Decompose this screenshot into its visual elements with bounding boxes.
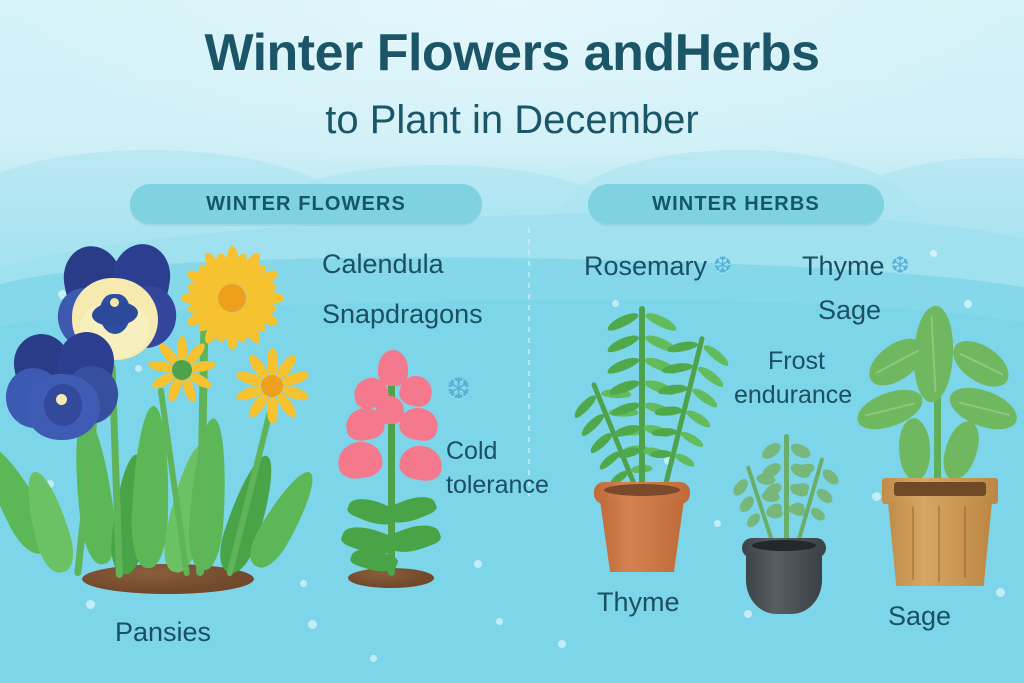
section-badge-winter-flowers[interactable]: WINTER FLOWERS bbox=[130, 184, 482, 224]
snapdragon-bloom bbox=[336, 439, 385, 481]
pot-body bbox=[746, 552, 822, 614]
planter-body bbox=[888, 502, 992, 586]
snowflake-icon: ❆ bbox=[713, 253, 732, 278]
page-subtitle: to Plant in December bbox=[0, 98, 1024, 142]
section-badge-herbs-label: WINTER HERBS bbox=[652, 193, 820, 216]
caption-sage: Sage bbox=[888, 602, 951, 632]
label-rosemary: Rosemary❆ bbox=[584, 252, 732, 282]
label-thyme-text: Thyme bbox=[802, 251, 885, 281]
label-rosemary-text: Rosemary bbox=[584, 251, 707, 281]
thyme-illustration bbox=[730, 430, 840, 590]
calendula-flower bbox=[234, 348, 310, 424]
snow-dot bbox=[744, 610, 752, 618]
snowflake-icon: ❆ bbox=[891, 253, 910, 278]
snow-dot bbox=[370, 655, 377, 662]
snapdragon-illustration bbox=[320, 350, 460, 590]
pot-soil bbox=[604, 484, 680, 496]
snapdragon-bloom bbox=[397, 443, 444, 484]
snow-dot bbox=[474, 560, 482, 568]
rosemary-illustration bbox=[560, 292, 722, 562]
section-divider bbox=[528, 228, 530, 496]
snow-dot bbox=[86, 600, 95, 609]
wood-grain bbox=[938, 506, 940, 582]
infographic-canvas: Winter Flowers andHerbs to Plant in Dece… bbox=[0, 0, 1024, 683]
pot-soil bbox=[752, 540, 816, 551]
page-title: Winter Flowers andHerbs bbox=[0, 26, 1024, 81]
sage-illustration bbox=[860, 300, 1024, 590]
pansies-illustration bbox=[0, 236, 320, 596]
label-sage: Sage bbox=[818, 296, 881, 326]
label-calendula: Calendula bbox=[322, 250, 444, 280]
calendula-flower bbox=[148, 336, 216, 404]
pansy-flower bbox=[6, 332, 122, 444]
snow-dot bbox=[496, 618, 503, 625]
snow-dot bbox=[558, 640, 566, 648]
section-badge-winter-herbs[interactable]: WINTER HERBS bbox=[588, 184, 884, 224]
caption-pansies: Pansies bbox=[115, 618, 211, 648]
label-endurance: endurance bbox=[734, 382, 852, 410]
section-badge-flowers-label: WINTER FLOWERS bbox=[206, 193, 406, 216]
snow-dot bbox=[930, 250, 937, 257]
caption-thyme: Thyme bbox=[597, 588, 680, 618]
pot-body bbox=[600, 500, 684, 572]
snow-dot bbox=[308, 620, 317, 629]
snowflake-icon: ❆ bbox=[446, 372, 471, 407]
sage-leaf bbox=[893, 416, 935, 483]
label-snapdragons: Snapdragons bbox=[322, 300, 483, 330]
planter-soil bbox=[894, 482, 986, 496]
wood-grain bbox=[964, 506, 966, 578]
sage-leaf bbox=[940, 418, 982, 483]
label-tolerance: tolerance bbox=[446, 472, 549, 500]
label-cold: Cold bbox=[446, 438, 497, 466]
wood-grain bbox=[912, 506, 914, 580]
snowflake-cold-tolerance: ❆ bbox=[446, 372, 471, 407]
sage-leaf bbox=[945, 334, 1017, 394]
label-thyme: Thyme❆ bbox=[802, 252, 910, 282]
label-frost: Frost bbox=[768, 348, 825, 376]
calendula-flower bbox=[180, 246, 284, 350]
snapdragon-bloom bbox=[376, 396, 404, 424]
